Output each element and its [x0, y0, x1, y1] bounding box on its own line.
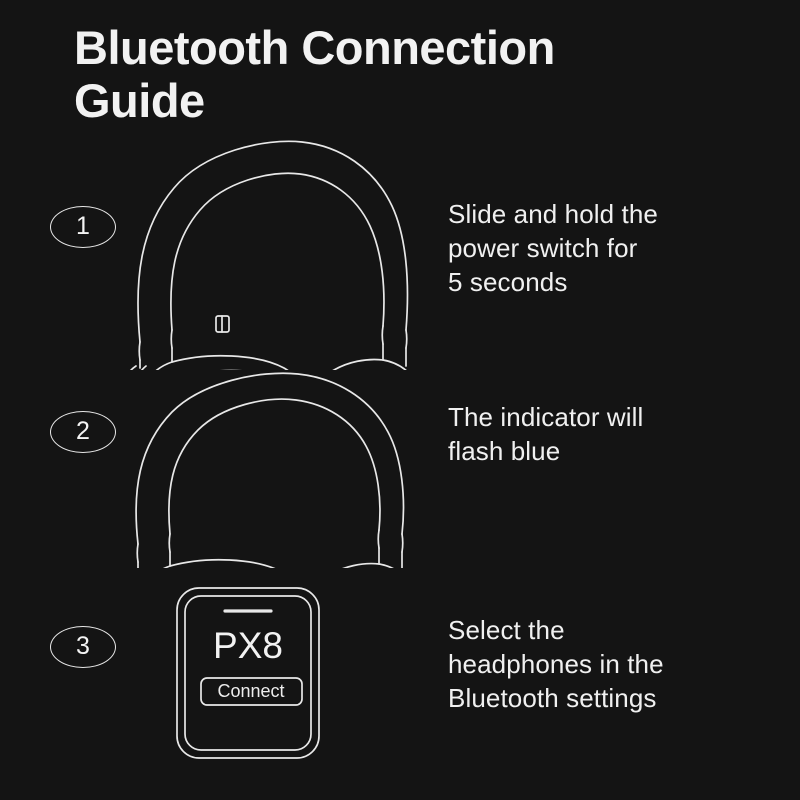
phone-device-name: PX8 [213, 625, 283, 666]
step-1: 1 [0, 130, 800, 370]
step-2: 2 [0, 368, 800, 568]
headphones-icon [112, 130, 412, 375]
step-number-label: 1 [76, 214, 90, 239]
step-instruction-3: Select the headphones in the Bluetooth s… [448, 614, 778, 715]
step-number-label: 2 [76, 419, 90, 444]
infographic-page: Bluetooth Connection Guide 1 [0, 0, 800, 800]
step-instruction-1: Slide and hold the power switch for 5 se… [448, 198, 778, 299]
step-number-label: 3 [76, 634, 90, 659]
step-number-badge-2: 2 [50, 411, 116, 453]
step-number-badge-1: 1 [50, 206, 116, 248]
step-instruction-2: The indicator will flash blue [448, 401, 778, 469]
phone-icon: PX8 Connect [112, 581, 327, 786]
page-title: Bluetooth Connection Guide [74, 22, 734, 127]
step-3: 3 PX8 Connect Select the headphones in t… [0, 575, 800, 790]
headphones-bluetooth-icon [112, 368, 412, 573]
step-number-badge-3: 3 [50, 626, 116, 668]
phone-connect-label: Connect [217, 681, 284, 701]
